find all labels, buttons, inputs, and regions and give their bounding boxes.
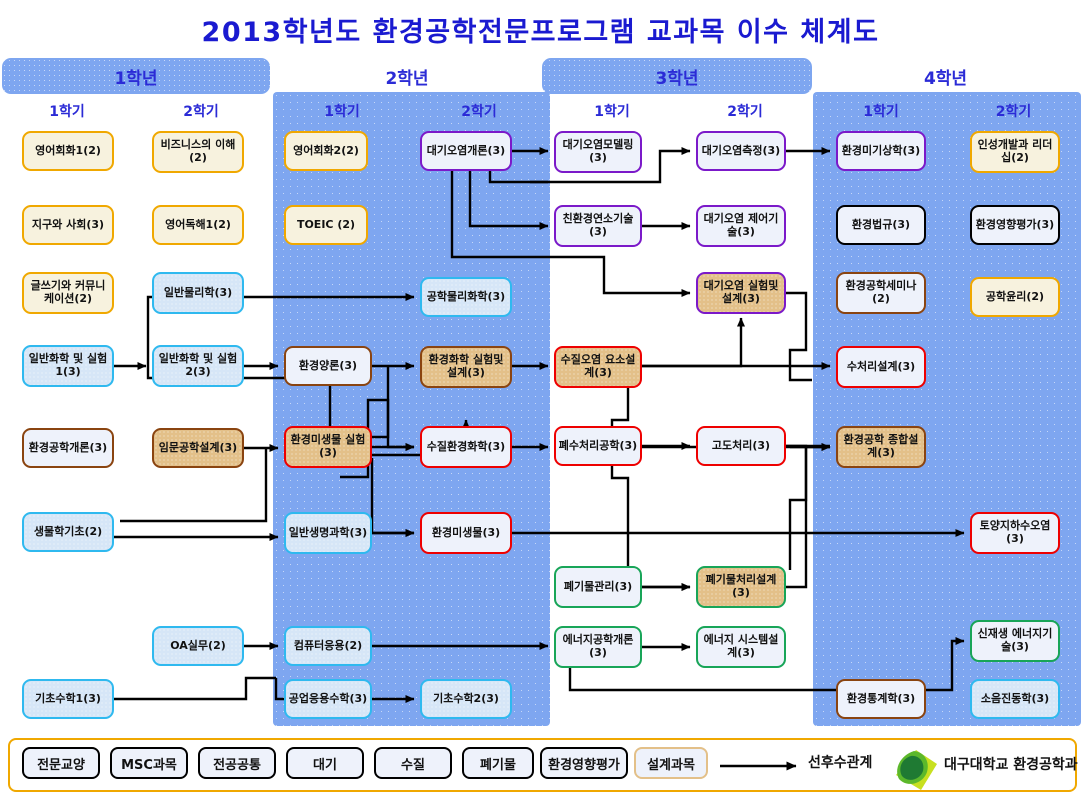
course-box-y3s2r2[interactable]: 대기오염 제어기술(3) — [696, 205, 786, 247]
course-box-y3s2r1[interactable]: 대기오염측정(3) — [696, 131, 786, 171]
course-box-y4s2r3[interactable]: 공학윤리(2) — [970, 277, 1060, 317]
course-box-y4s2r5[interactable]: 신재생 에너지기술(3) — [970, 620, 1060, 662]
course-box-y2s1r5[interactable]: 일반생명과학(3) — [284, 512, 372, 554]
course-box-y1s2r1[interactable]: 비즈니스의 이해(2) — [152, 131, 244, 173]
course-box-y1s1r3[interactable]: 글쓰기와 커뮤니케이션(2) — [22, 272, 114, 314]
course-box-y4s2r6[interactable]: 소음진동학(3) — [970, 679, 1060, 719]
course-box-y2s2r2[interactable]: 공학물리화학(3) — [420, 277, 512, 317]
course-box-y3s1r3[interactable]: 수질오염 요소설계(3) — [554, 346, 642, 388]
university-logo-icon — [893, 748, 939, 792]
course-box-y1s1r6[interactable]: 생물학기초(2) — [22, 512, 114, 552]
legend-item-6[interactable]: 환경영향평가 — [540, 747, 628, 779]
course-box-y2s1r3[interactable]: 환경양론(3) — [284, 346, 372, 386]
course-box-y2s1r7[interactable]: 공업응용수학(3) — [284, 679, 372, 719]
course-box-y1s1r1[interactable]: 영어회화1(2) — [22, 131, 114, 171]
course-box-y2s2r5[interactable]: 환경미생물(3) — [420, 512, 512, 554]
legend-item-2[interactable]: 전공공통 — [198, 747, 276, 779]
course-box-y3s2r5[interactable]: 폐기물처리설계(3) — [696, 566, 786, 608]
university-label: 대구대학교 환경공학과 — [944, 754, 1078, 774]
course-box-y3s2r4[interactable]: 고도처리(3) — [696, 426, 786, 466]
legend-item-5[interactable]: 폐기물 — [462, 747, 534, 779]
legend-item-1[interactable]: MSC과목 — [110, 747, 188, 779]
course-box-y3s1r6[interactable]: 에너지공학개론(3) — [554, 626, 642, 668]
course-box-y1s1r5[interactable]: 환경공학개론(3) — [22, 428, 114, 468]
course-box-y4s1r4[interactable]: 수처리설계(3) — [836, 346, 926, 388]
course-box-y4s2r4[interactable]: 토양지하수오염(3) — [970, 512, 1060, 554]
course-box-y4s1r1[interactable]: 환경미기상학(3) — [836, 131, 926, 171]
course-box-y1s2r2[interactable]: 영어독해1(2) — [152, 205, 244, 245]
relation-arrow-icon — [718, 757, 806, 775]
course-box-y2s2r3[interactable]: 환경화학 실험및설계(3) — [420, 346, 512, 388]
legend-item-3[interactable]: 대기 — [286, 747, 364, 779]
course-box-y2s1r2[interactable]: TOEIC (2) — [284, 205, 368, 245]
course-box-y1s2r5[interactable]: 임문공학설계(3) — [152, 428, 244, 468]
course-box-y4s1r6[interactable]: 환경통계학(3) — [836, 679, 926, 719]
course-box-y1s1r7[interactable]: 기초수학1(3) — [22, 679, 114, 719]
course-box-y3s2r3[interactable]: 대기오염 실험및설계(3) — [696, 272, 786, 314]
course-box-y3s1r5[interactable]: 폐기물관리(3) — [554, 566, 642, 608]
course-box-y2s2r4[interactable]: 수질환경화학(3) — [420, 426, 512, 468]
course-box-y2s1r1[interactable]: 영어회화2(2) — [284, 131, 368, 171]
course-box-y1s1r2[interactable]: 지구와 사회(3) — [22, 205, 114, 245]
course-box-y4s2r1[interactable]: 인성개발과 리더십(2) — [970, 131, 1060, 173]
course-box-y4s1r2[interactable]: 환경법규(3) — [836, 205, 926, 245]
course-box-y3s1r2[interactable]: 친환경연소기술(3) — [554, 205, 642, 247]
course-box-y4s1r3[interactable]: 환경공학세미나(2) — [836, 272, 926, 314]
course-box-y1s2r3[interactable]: 일반물리학(3) — [152, 272, 244, 314]
relation-label: 선후수관계 — [808, 752, 872, 772]
course-box-y2s1r4[interactable]: 환경미생물 실험(3) — [284, 426, 372, 468]
course-box-y2s2r6[interactable]: 기초수학2(3) — [420, 679, 512, 719]
prerequisite-connectors — [0, 0, 1081, 794]
legend-item-7[interactable]: 설계과목 — [634, 747, 708, 779]
course-box-y4s1r5[interactable]: 환경공학 종합설계(3) — [836, 426, 926, 468]
course-box-y1s1r4[interactable]: 일반화학 및 실험1(3) — [22, 345, 114, 387]
course-box-y2s2r1[interactable]: 대기오염개론(3) — [420, 131, 512, 171]
course-box-y4s2r2[interactable]: 환경영향평가(3) — [970, 205, 1060, 245]
course-box-y3s1r4[interactable]: 폐수처리공학(3) — [554, 426, 642, 466]
course-box-y1s2r4[interactable]: 일반화학 및 실험2(3) — [152, 345, 244, 387]
course-box-y3s1r1[interactable]: 대기오염모델링(3) — [554, 131, 642, 173]
course-box-y2s1r6[interactable]: 컴퓨터응용(2) — [284, 626, 372, 666]
legend-item-0[interactable]: 전문교양 — [22, 747, 100, 779]
course-box-y3s2r6[interactable]: 에너지 시스템설계(3) — [696, 626, 786, 668]
course-box-y1s2r6[interactable]: OA실무(2) — [152, 626, 244, 666]
legend-item-4[interactable]: 수질 — [374, 747, 452, 779]
